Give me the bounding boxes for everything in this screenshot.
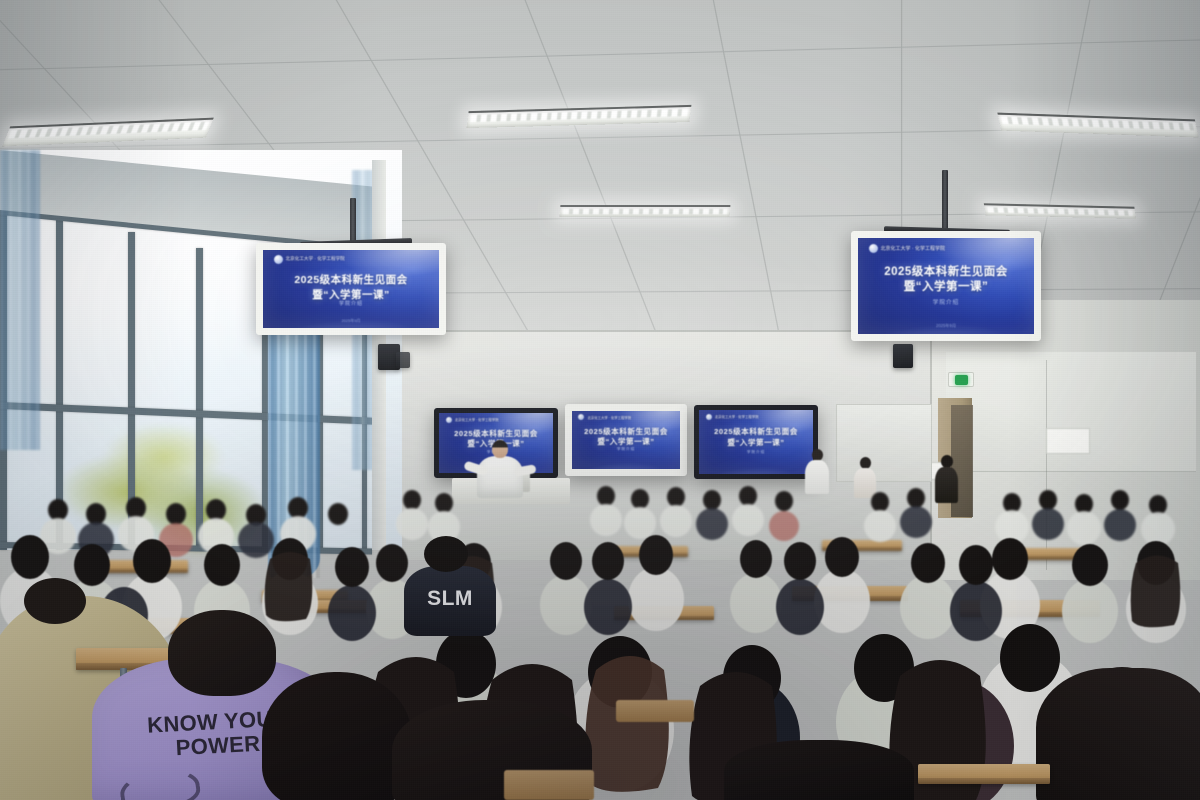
chair-back bbox=[504, 770, 594, 800]
display-screen: 北京化工大学 · 化学工程学院 2025级本科新生见面会 暨“入学第一课” 学院… bbox=[263, 250, 439, 328]
foreground-person-right bbox=[1036, 668, 1200, 800]
right-wall-panel bbox=[946, 352, 1196, 472]
head bbox=[424, 536, 468, 572]
foreground-head-dark bbox=[262, 672, 412, 800]
ceiling-light-panel bbox=[560, 205, 731, 217]
chair-back bbox=[616, 700, 694, 722]
monitor-mount-pole bbox=[942, 170, 948, 234]
head bbox=[24, 578, 86, 624]
display-screen: 北京化工大学 · 化学工程学院 2025级本科新生见面会 暨“入学第一课” 学院… bbox=[858, 238, 1034, 334]
display-screen: 北京化工大学 · 化学工程学院 2025级本科新生见面会 暨“入学第一课” 学院… bbox=[572, 411, 680, 469]
foreground-head-dark bbox=[724, 740, 914, 800]
display-screen: 北京化工大学 · 化学工程学院 2025级本科新生见面会 暨“入学第一课” 学院… bbox=[699, 410, 813, 474]
left-overhead-display[interactable]: 北京化工大学 · 化学工程学院 2025级本科新生见面会 暨“入学第一课” 学院… bbox=[256, 243, 446, 335]
exit-sign-icon bbox=[948, 372, 974, 387]
presenter-head bbox=[492, 440, 508, 458]
monitor-mount-pole bbox=[350, 198, 356, 246]
screen-bloom bbox=[858, 238, 1034, 334]
window-curtain bbox=[0, 150, 40, 450]
head bbox=[168, 610, 276, 696]
wall-notice bbox=[1046, 428, 1090, 454]
right-overhead-display[interactable]: 北京化工大学 · 化学工程学院 2025级本科新生见面会 暨“入学第一课” 学院… bbox=[851, 231, 1041, 341]
wall-speaker-icon bbox=[893, 344, 913, 368]
front-display-right[interactable]: 北京化工大学 · 化学工程学院 2025级本科新生见面会 暨“入学第一课” 学院… bbox=[694, 405, 818, 479]
seated-student-navy-tee: SLM bbox=[404, 566, 496, 636]
screen-bloom bbox=[572, 411, 680, 469]
front-display-center[interactable]: 北京化工大学 · 化学工程学院 2025级本科新生见面会 暨“入学第一课” 学院… bbox=[565, 404, 687, 476]
tee-graphic-text: SLM bbox=[404, 588, 496, 609]
wall-speaker-icon bbox=[396, 352, 410, 368]
tee-graphic-swirl bbox=[118, 765, 203, 800]
classroom-photo: 北京化工大学 · 化学工程学院 2025级本科新生见面会 暨“入学第一课” 学院… bbox=[0, 0, 1200, 800]
screen-bloom bbox=[263, 250, 439, 328]
screen-bloom bbox=[699, 410, 813, 474]
desk bbox=[918, 764, 1050, 784]
